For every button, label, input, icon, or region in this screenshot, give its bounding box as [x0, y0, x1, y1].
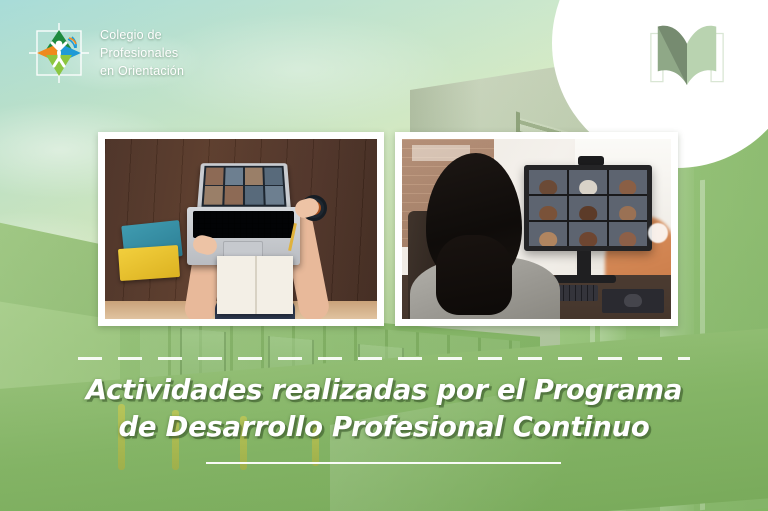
video-tile [529, 222, 567, 246]
monitor-stand-base [554, 275, 616, 283]
logo-line-3: en Orientación [100, 62, 184, 80]
person-hair-lower [436, 235, 512, 315]
video-tile [225, 168, 243, 185]
video-tile [569, 222, 607, 246]
compass-diamond-logo-icon [28, 22, 90, 84]
yellow-book [118, 245, 180, 281]
video-tile [609, 222, 647, 246]
video-tile [204, 186, 224, 204]
title-line-2: de Desarrollo Profesional Continuo [0, 409, 768, 446]
photo-laptop-video-call-image [105, 139, 377, 319]
video-tile [245, 186, 264, 204]
video-tile [264, 168, 283, 185]
video-tile [265, 186, 285, 204]
video-tile [205, 168, 224, 185]
video-tile [609, 196, 647, 220]
monitor-stand-neck [577, 251, 591, 277]
laptop-screen [197, 163, 291, 211]
video-tile [569, 170, 607, 194]
video-tile [609, 170, 647, 194]
logo-line-1: Colegio de [100, 26, 184, 44]
logo-line-2: Profesionales [100, 44, 184, 62]
video-tile [224, 186, 243, 204]
video-call-grid [201, 166, 286, 207]
photo-gallery [98, 132, 678, 326]
laptop-keyboard [193, 211, 294, 238]
photo-monitor-group-call-image [402, 139, 671, 319]
page-title: Actividades realizadas por el Programa d… [0, 372, 768, 445]
computer-mouse [624, 294, 642, 307]
logo: Colegio de Profesionales en Orientación [28, 22, 184, 84]
logo-text: Colegio de Profesionales en Orientación [100, 26, 184, 80]
computer-monitor [524, 165, 652, 251]
divider-dashed-top [78, 357, 690, 360]
video-tile [529, 196, 567, 220]
open-notebook [217, 256, 293, 314]
video-call-grid-9 [529, 170, 647, 246]
open-book-icon [644, 18, 730, 92]
photo-monitor-group-call [395, 132, 678, 326]
divider-solid-bottom [206, 462, 561, 464]
photo-laptop-video-call [98, 132, 384, 326]
video-tile [569, 196, 607, 220]
video-tile [245, 168, 263, 185]
promotional-banner: Colegio de Profesionales en Orientación [0, 0, 768, 511]
video-tile [529, 170, 567, 194]
lens-flare [648, 223, 668, 243]
title-line-1: Actividades realizadas por el Programa [86, 374, 682, 406]
